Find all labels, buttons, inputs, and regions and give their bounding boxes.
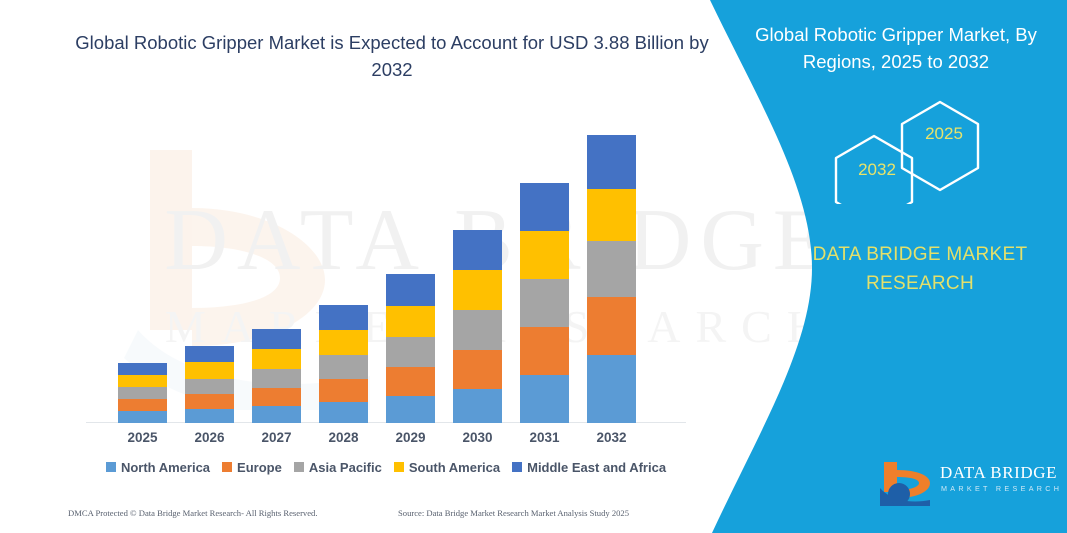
bar-segment (319, 305, 368, 330)
bar-segment (453, 310, 502, 350)
bar-segment (520, 183, 569, 231)
x-axis-label-2029: 2029 (386, 430, 435, 445)
bar-segment (118, 375, 167, 387)
legend-item-europe[interactable]: Europe (222, 460, 282, 475)
footer-copyright: DMCA Protected © Data Bridge Market Rese… (68, 508, 318, 518)
bar-segment (587, 241, 636, 297)
bar-segment (185, 379, 234, 394)
legend-item-south-america[interactable]: South America (394, 460, 500, 475)
bar-segment (453, 389, 502, 423)
page-title: Global Robotic Gripper Market is Expecte… (62, 30, 722, 84)
bar-segment (118, 411, 167, 423)
brand-name: DATA BRIDGE MARKET RESEARCH (800, 241, 1040, 298)
legend-label: Europe (237, 460, 282, 475)
hexagon-label-start-year: 2032 (836, 160, 918, 180)
bar-segment (453, 270, 502, 310)
legend-item-north-america[interactable]: North America (106, 460, 210, 475)
legend-swatch-icon (106, 462, 116, 472)
logo-wordmark: DATA BRIDGE (940, 463, 1057, 483)
legend-label: Middle East and Africa (527, 460, 666, 475)
bar-segment (453, 350, 502, 389)
legend-item-middle-east-and-africa[interactable]: Middle East and Africa (512, 460, 666, 475)
x-axis-label-2027: 2027 (252, 430, 301, 445)
x-axis-label-2025: 2025 (118, 430, 167, 445)
footer-source: Source: Data Bridge Market Research Mark… (398, 508, 629, 518)
data-bridge-logo-icon (878, 458, 938, 506)
legend-label: South America (409, 460, 500, 475)
bar-segment (185, 394, 234, 409)
company-logo: DATA BRIDGE MARKET RESEARCH (878, 458, 1058, 510)
bar-2029 (386, 274, 435, 423)
hexagon-label-end-year: 2025 (903, 124, 985, 144)
legend-label: Asia Pacific (309, 460, 382, 475)
bar-segment (587, 189, 636, 241)
bar-segment (252, 369, 301, 388)
x-axis-label-2030: 2030 (453, 430, 502, 445)
x-axis-label-2031: 2031 (520, 430, 569, 445)
bar-segment (319, 355, 368, 379)
panel-title: Global Robotic Gripper Market, By Region… (735, 22, 1057, 76)
legend-swatch-icon (512, 462, 522, 472)
bar-segment (587, 297, 636, 355)
legend-item-asia-pacific[interactable]: Asia Pacific (294, 460, 382, 475)
bar-segment (520, 279, 569, 327)
bar-segment (118, 387, 167, 399)
bar-segment (587, 135, 636, 189)
bar-segment (118, 363, 167, 375)
bar-segment (386, 396, 435, 423)
bar-segment (587, 355, 636, 423)
bar-2028 (319, 305, 368, 423)
bar-segment (252, 388, 301, 406)
hexagon-pair-icon (828, 96, 1008, 204)
bar-segment (520, 375, 569, 423)
bar-segment (185, 362, 234, 379)
bar-segment (453, 230, 502, 270)
legend-label: North America (121, 460, 210, 475)
bar-segment (252, 406, 301, 423)
bar-2026 (185, 346, 234, 423)
bar-2031 (520, 183, 569, 423)
bar-segment (520, 231, 569, 279)
bar-segment (386, 306, 435, 337)
x-axis-label-2026: 2026 (185, 430, 234, 445)
bar-segment (252, 349, 301, 369)
infographic-canvas: DATA BRIDGE MARKET RESEARCH Global Robot… (0, 0, 1067, 533)
legend-swatch-icon (394, 462, 404, 472)
bar-segment (118, 399, 167, 411)
bar-2030 (453, 230, 502, 423)
bar-segment (319, 330, 368, 355)
bar-segment (319, 402, 368, 423)
bar-segment (319, 379, 368, 402)
logo-tagline: MARKET RESEARCH (941, 484, 1062, 493)
x-axis-labels: 20252026202720282029203020312032 (86, 430, 686, 450)
bar-segment (386, 274, 435, 306)
bar-2027 (252, 329, 301, 423)
x-axis-label-2032: 2032 (587, 430, 636, 445)
chart-legend: North AmericaEuropeAsia PacificSouth Ame… (86, 456, 686, 478)
legend-swatch-icon (222, 462, 232, 472)
bar-2032 (587, 135, 636, 423)
bar-segment (185, 346, 234, 362)
bar-segment (520, 327, 569, 375)
x-axis-label-2028: 2028 (319, 430, 368, 445)
bar-segment (252, 329, 301, 349)
bar-segment (185, 409, 234, 423)
stacked-bar-chart (86, 120, 686, 423)
footer: DMCA Protected © Data Bridge Market Rese… (68, 508, 688, 524)
bar-segment (386, 337, 435, 367)
bar-segment (386, 367, 435, 396)
legend-swatch-icon (294, 462, 304, 472)
bar-2025 (118, 363, 167, 423)
